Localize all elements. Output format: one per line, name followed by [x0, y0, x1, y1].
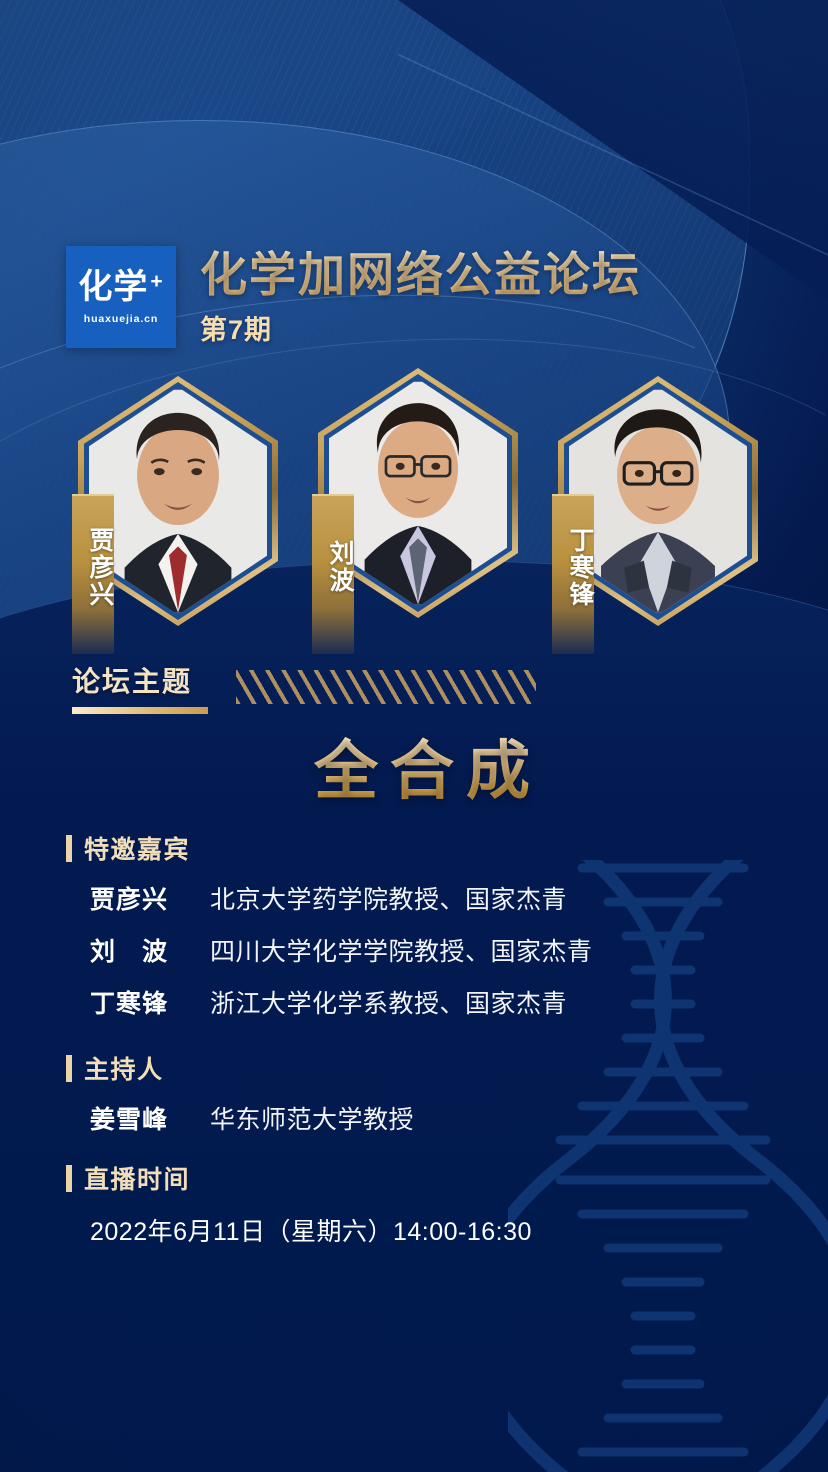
section-header: 主持人 [66, 1050, 766, 1086]
section-bar [66, 835, 72, 862]
guest-name: 刘 波 [90, 932, 210, 968]
guest-affiliation: 四川大学化学学院教授、国家杰青 [210, 932, 593, 968]
section-header: 特邀嘉宾 [66, 830, 766, 866]
host-list: 姜雪峰 华东师范大学教授 [66, 1100, 766, 1136]
broadcast-heading: 直播时间 [84, 1160, 190, 1196]
host-name: 姜雪峰 [90, 1100, 210, 1136]
guest-affiliation: 浙江大学化学系教授、国家杰青 [210, 984, 567, 1020]
section-header: 直播时间 [66, 1160, 766, 1196]
section-broadcast-time: 直播时间 2022年6月11日（星期六）14:00-16:30 [66, 1160, 766, 1248]
brand-logo-text: 化学 [78, 270, 148, 304]
section-bar [66, 1055, 72, 1082]
host-affiliation: 华东师范大学教授 [210, 1100, 414, 1136]
theme-underline [72, 707, 208, 714]
guest-name: 丁寒锋 [90, 984, 210, 1020]
header-titles: 化学加网络公益论坛 第7期 [200, 246, 641, 347]
theme-label-wrap: 论坛主题 [72, 660, 208, 714]
poster: 化学 + huaxuejia.cn 化学加网络公益论坛 第7期 [0, 0, 828, 1472]
guests-heading: 特邀嘉宾 [84, 830, 190, 866]
hatch-pattern-icon [236, 670, 536, 704]
section-host: 主持人 姜雪峰 华东师范大学教授 [66, 1050, 766, 1136]
speaker-card-3[interactable]: 丁寒锋 [558, 376, 758, 626]
broadcast-datetime: 2022年6月11日（星期六）14:00-16:30 [90, 1212, 766, 1248]
issue-number: 第7期 [200, 308, 641, 347]
page-title: 化学加网络公益论坛 [200, 250, 641, 300]
list-item: 刘 波 四川大学化学学院教授、国家杰青 [90, 932, 766, 968]
poster-header: 化学 + huaxuejia.cn 化学加网络公益论坛 第7期 [66, 246, 641, 348]
list-item: 贾彦兴 北京大学药学院教授、国家杰青 [90, 880, 766, 916]
guests-list: 贾彦兴 北京大学药学院教授、国家杰青 刘 波 四川大学化学学院教授、国家杰青 丁… [66, 880, 766, 1020]
section-bar [66, 1165, 72, 1192]
speaker-nameplate-1: 贾彦兴 [72, 494, 114, 654]
speaker-nameplate-2: 刘波 [312, 494, 354, 654]
speaker-card-1[interactable]: 贾彦兴 [78, 376, 278, 626]
theme-title: 全合成 [72, 736, 772, 806]
theme-block: 论坛主题 全合成 [72, 660, 772, 806]
info-panel: 特邀嘉宾 贾彦兴 北京大学药学院教授、国家杰青 刘 波 四川大学化学学院教授、国… [66, 818, 766, 1254]
theme-label: 论坛主题 [72, 660, 208, 700]
speaker-row: 贾彦兴 [0, 368, 828, 638]
list-item: 丁寒锋 浙江大学化学系教授、国家杰青 [90, 984, 766, 1020]
speaker-card-2[interactable]: 刘波 [318, 368, 518, 618]
list-item: 姜雪峰 华东师范大学教授 [90, 1100, 766, 1136]
guest-affiliation: 北京大学药学院教授、国家杰青 [210, 880, 567, 916]
section-guests: 特邀嘉宾 贾彦兴 北京大学药学院教授、国家杰青 刘 波 四川大学化学学院教授、国… [66, 830, 766, 1020]
brand-logo[interactable]: 化学 + huaxuejia.cn [66, 246, 176, 348]
theme-label-row: 论坛主题 [72, 660, 772, 714]
brand-logo-mark: 化学 + [78, 270, 163, 304]
plus-icon: + [150, 271, 163, 292]
guest-name: 贾彦兴 [90, 880, 210, 916]
brand-logo-url: huaxuejia.cn [84, 313, 158, 325]
speaker-nameplate-3: 丁寒锋 [552, 494, 594, 654]
host-heading: 主持人 [84, 1050, 164, 1086]
